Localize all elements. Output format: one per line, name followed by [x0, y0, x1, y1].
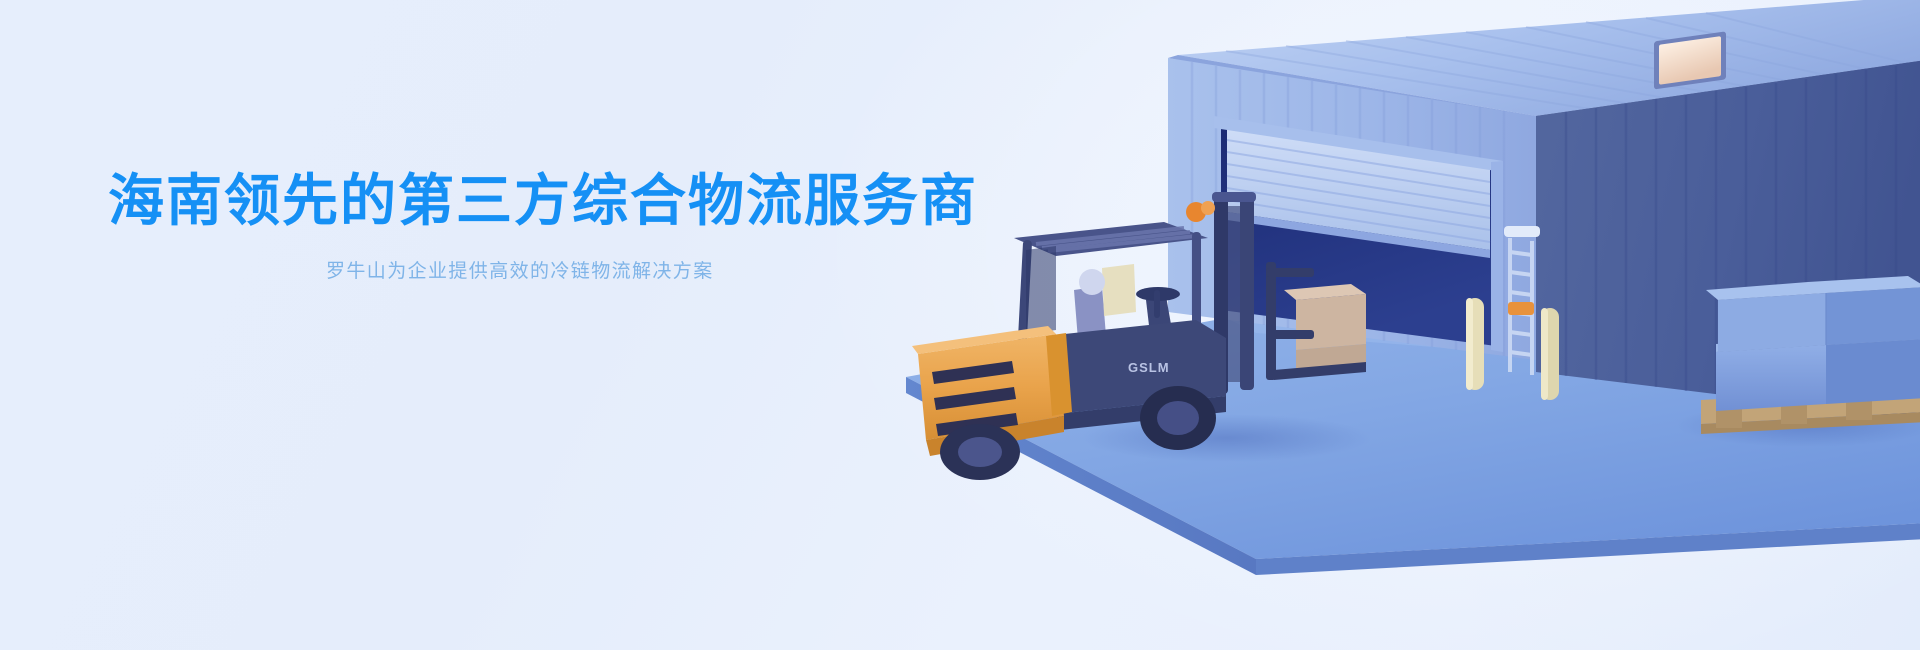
forklift-mast [1186, 192, 1256, 394]
page-subtitle: 罗牛山为企业提供高效的冷链物流解决方案 [326, 256, 1008, 283]
warehouse-forklift-illustration: GSLM [896, 0, 1920, 650]
forklift-wheels [940, 386, 1216, 480]
cardboard-boxes [1284, 284, 1366, 374]
roller-shutter-door [1227, 126, 1490, 258]
door-opening [1214, 116, 1503, 352]
fork-carriage [1266, 262, 1366, 380]
wall-window [1654, 31, 1726, 89]
hero-banner: 海南领先的第三方综合物流服务商 罗牛山为企业提供高效的冷链物流解决方案 [0, 0, 1920, 650]
wooden-pallet [1701, 388, 1920, 434]
wall-fixture [1504, 226, 1540, 237]
forklift-chassis: GSLM [1046, 320, 1226, 430]
blue-crates-pallet [1676, 276, 1920, 447]
hero-copy-block: 海南领先的第三方综合物流服务商 罗牛山为企业提供高效的冷链物流解决方案 [108, 168, 1008, 283]
loading-platform [906, 318, 1920, 575]
wall-ladder [1510, 238, 1532, 375]
wall-marker [1508, 302, 1534, 315]
svg-text:GSLM: GSLM [1128, 360, 1170, 375]
warehouse-building [1168, 0, 1920, 420]
page-title: 海南领先的第三方综合物流服务商 [108, 168, 1008, 234]
overhead-guard [1014, 222, 1208, 358]
forklift-body [912, 326, 1072, 456]
safety-bollards [1466, 298, 1559, 400]
forklift-cab [1074, 264, 1180, 340]
